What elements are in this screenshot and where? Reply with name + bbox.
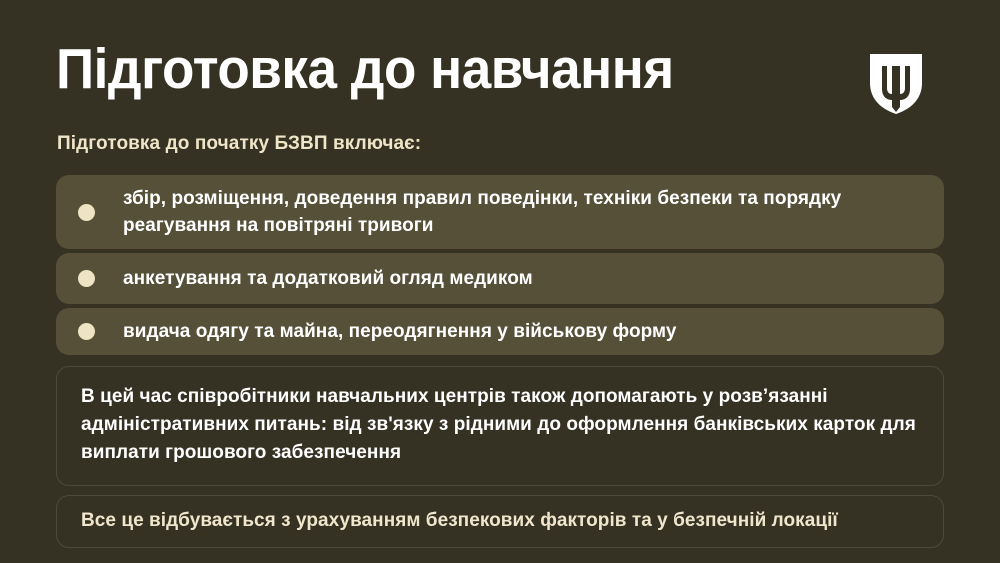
bullet-card-3: видача одягу та майна, переодягнення у в…	[56, 308, 944, 355]
ukraine-armed-forces-trident-emblem	[869, 53, 923, 115]
bullet-card-1-text: збір, розміщення, доведення правил повед…	[123, 185, 922, 239]
slide-header: Підготовка до навчання	[0, 0, 1000, 120]
bullet-dot-icon	[78, 270, 95, 287]
presentation-slide: Підготовка до навчання Підготовка до поч…	[0, 0, 1000, 563]
bullet-card-3-text: видача одягу та майна, переодягнення у в…	[123, 318, 922, 345]
bullet-dot-icon	[78, 204, 95, 221]
note-card-administrative-text: В цей час співробітники навчальних центр…	[81, 383, 919, 467]
bullet-card-1: збір, розміщення, доведення правил повед…	[56, 175, 944, 249]
page-title: Підготовка до навчання	[56, 38, 674, 100]
content-card-list: збір, розміщення, доведення правил повед…	[56, 175, 944, 548]
note-card-security-text: Все це відбувається з урахуванням безпек…	[81, 507, 919, 534]
slide-subtitle: Підготовка до початку БЗВП включає:	[57, 132, 421, 156]
bullet-dot-icon	[78, 323, 95, 340]
note-card-administrative: В цей час співробітники навчальних центр…	[56, 366, 944, 486]
bullet-card-2: анкетування та додатковий огляд медиком	[56, 253, 944, 304]
bullet-card-2-text: анкетування та додатковий огляд медиком	[123, 265, 922, 292]
note-card-security: Все це відбувається з урахуванням безпек…	[56, 495, 944, 548]
